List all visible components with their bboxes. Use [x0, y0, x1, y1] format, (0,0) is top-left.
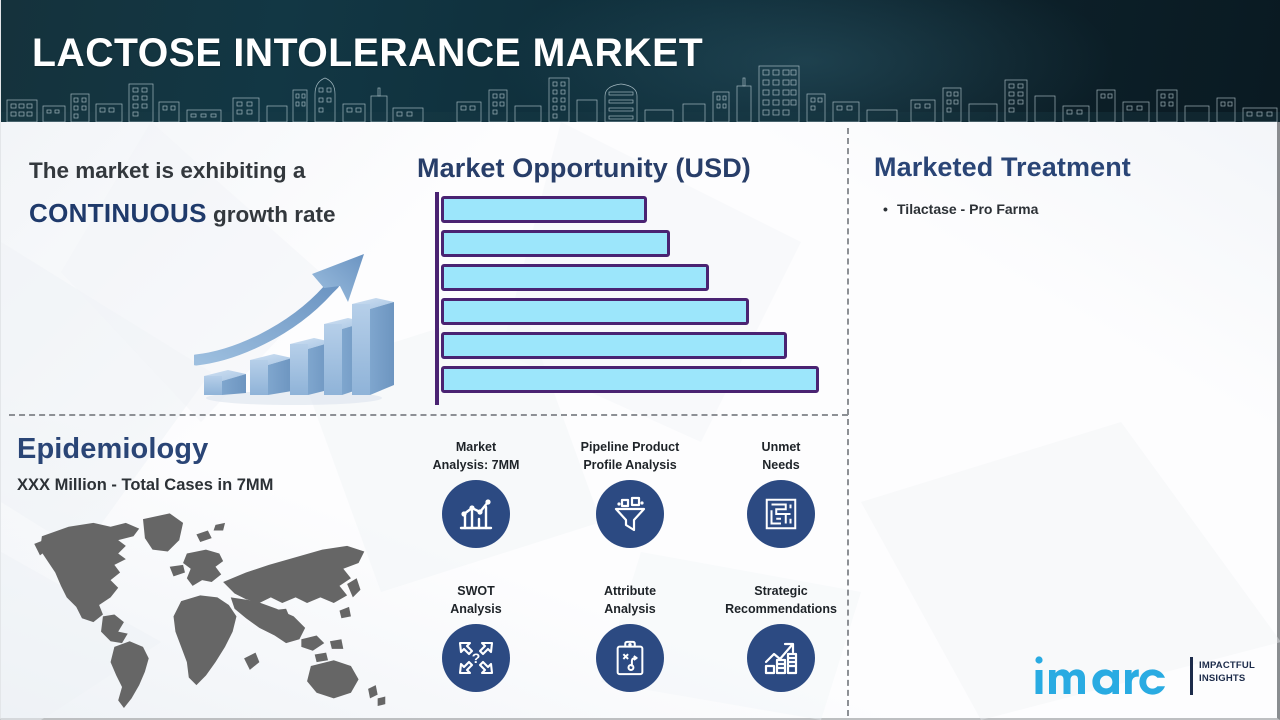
maze-icon	[762, 495, 800, 533]
analysis-icon-grid: Market Analysis: 7MM Pipeline Product Pr…	[411, 438, 847, 710]
icon-label-line1: Unmet	[706, 438, 856, 456]
horizontal-divider	[9, 414, 848, 416]
header-banner: LACTOSE INTOLERANCE MARKET	[1, 0, 1280, 122]
market-opportunity-chart	[435, 192, 835, 407]
list-item: • Tilactase - Pro Farma	[881, 199, 1261, 220]
logo-tagline-line1: IMPACTFUL	[1199, 660, 1255, 673]
infographic-poster: LACTOSE INTOLERANCE MARKET The market is…	[0, 0, 1280, 720]
growth-bar-chart-arrow-icon	[194, 248, 399, 408]
lead-statement: The market is exhibiting a CONTINUOUS gr…	[29, 152, 379, 235]
lead-text-highlight: CONTINUOUS	[29, 198, 207, 228]
icon-label-line1: Pipeline Product	[555, 438, 705, 456]
icon-label-line2: Analysis	[401, 600, 551, 618]
icon-label-line2: Analysis	[555, 600, 705, 618]
growth-arrow-bars-icon	[761, 638, 801, 678]
page-title: LACTOSE INTOLERANCE MARKET	[32, 33, 703, 73]
icon-circle[interactable]	[596, 624, 664, 692]
bullet-icon: •	[883, 199, 888, 220]
icon-label-line1: Market	[401, 438, 551, 456]
icon-label-line2: Analysis: 7MM	[401, 456, 551, 474]
icon-label-line1: Strategic	[706, 582, 856, 600]
logo-tagline-line2: INSIGHTS	[1199, 673, 1255, 686]
market-opportunity-title: Market Opportunity (USD)	[417, 153, 751, 184]
icon-label-line1: SWOT	[401, 582, 551, 600]
icon-label-line2: Profile Analysis	[555, 456, 705, 474]
icon-label-line2: Needs	[706, 456, 856, 474]
lead-text-before: The market is exhibiting a	[29, 158, 305, 183]
icon-circle[interactable]	[747, 624, 815, 692]
funnel-icon	[610, 494, 650, 534]
chart-bar	[441, 298, 749, 325]
grid-cell-market-analysis[interactable]: Market Analysis: 7MM	[401, 438, 551, 548]
epidemiology-title: Epidemiology	[17, 433, 208, 466]
grid-cell-attribute-analysis[interactable]: Attribute Analysis	[555, 582, 705, 692]
icon-circle[interactable]	[596, 480, 664, 548]
icon-circle[interactable]	[747, 480, 815, 548]
icon-circle[interactable]	[442, 480, 510, 548]
clipboard-strategy-icon	[611, 639, 649, 677]
grid-cell-pipeline-product-profile-analysis[interactable]: Pipeline Product Profile Analysis	[555, 438, 705, 548]
swot-arrows-question-icon: ?	[456, 638, 496, 678]
chart-bar	[441, 332, 787, 359]
marketed-treatment-title: Marketed Treatment	[874, 152, 1131, 183]
chart-bar	[441, 366, 819, 393]
logo-tagline: IMPACTFUL INSIGHTS	[1199, 660, 1255, 686]
bar-chart-line-icon	[456, 494, 496, 534]
epidemiology-subtitle: XXX Million - Total Cases in 7MM	[17, 476, 273, 495]
grid-cell-unmet-needs[interactable]: Unmet Needs	[706, 438, 856, 548]
marketed-treatment-list: • Tilactase - Pro Farma	[881, 199, 1261, 220]
chart-bar	[441, 230, 670, 257]
chart-bar	[441, 264, 709, 291]
imarc-logo[interactable]: IMPACTFUL INSIGHTS	[1021, 648, 1259, 702]
grid-cell-swot-analysis[interactable]: SWOT Analysis ?	[401, 582, 551, 692]
svg-text:?: ?	[472, 650, 481, 666]
icon-label-line1: Attribute	[555, 582, 705, 600]
world-map-icon	[19, 498, 391, 710]
icon-label-line2: Recommendations	[706, 600, 856, 618]
list-item-label: Tilactase - Pro Farma	[897, 201, 1038, 217]
icon-circle[interactable]: ?	[442, 624, 510, 692]
lead-text-after: growth rate	[207, 202, 336, 227]
chart-bar	[441, 196, 647, 223]
grid-cell-strategic-recommendations[interactable]: Strategic Recommendations	[706, 582, 856, 692]
chart-axis	[435, 192, 439, 405]
